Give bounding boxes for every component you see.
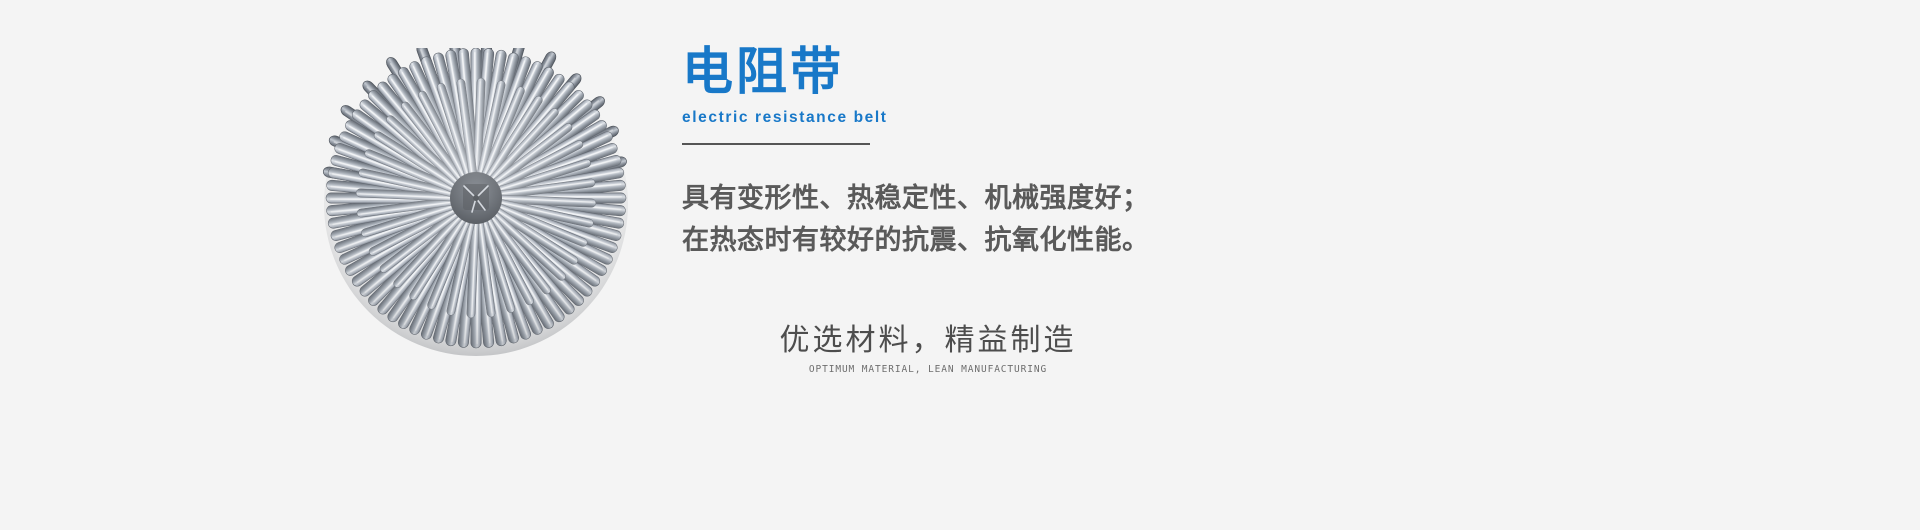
slogan-chinese: 优选材料，精益制造	[778, 322, 1078, 360]
slogan-english: OPTIMUM MATERIAL, LEAN MANUFACTURING	[778, 363, 1078, 376]
page-subtitle: electric resistance belt	[682, 109, 1482, 127]
description-line: 在热态时有较好的抗震、抗氧化性能。	[682, 219, 1482, 261]
product-description: 具有变形性、热稳定性、机械强度好； 在热态时有较好的抗震、抗氧化性能。	[682, 177, 1482, 261]
banner-content: 电阻带 electric resistance belt 具有变形性、热稳定性、…	[682, 44, 1482, 261]
product-image	[296, 48, 656, 408]
title-divider	[682, 143, 870, 145]
product-banner: 电阻带 electric resistance belt 具有变形性、热稳定性、…	[0, 0, 1920, 530]
page-title: 电阻带	[682, 44, 1482, 99]
description-line: 具有变形性、热稳定性、机械强度好；	[682, 177, 1482, 219]
slogan-block: 优选材料，精益制造 OPTIMUM MATERIAL, LEAN MANUFAC…	[778, 322, 1078, 376]
